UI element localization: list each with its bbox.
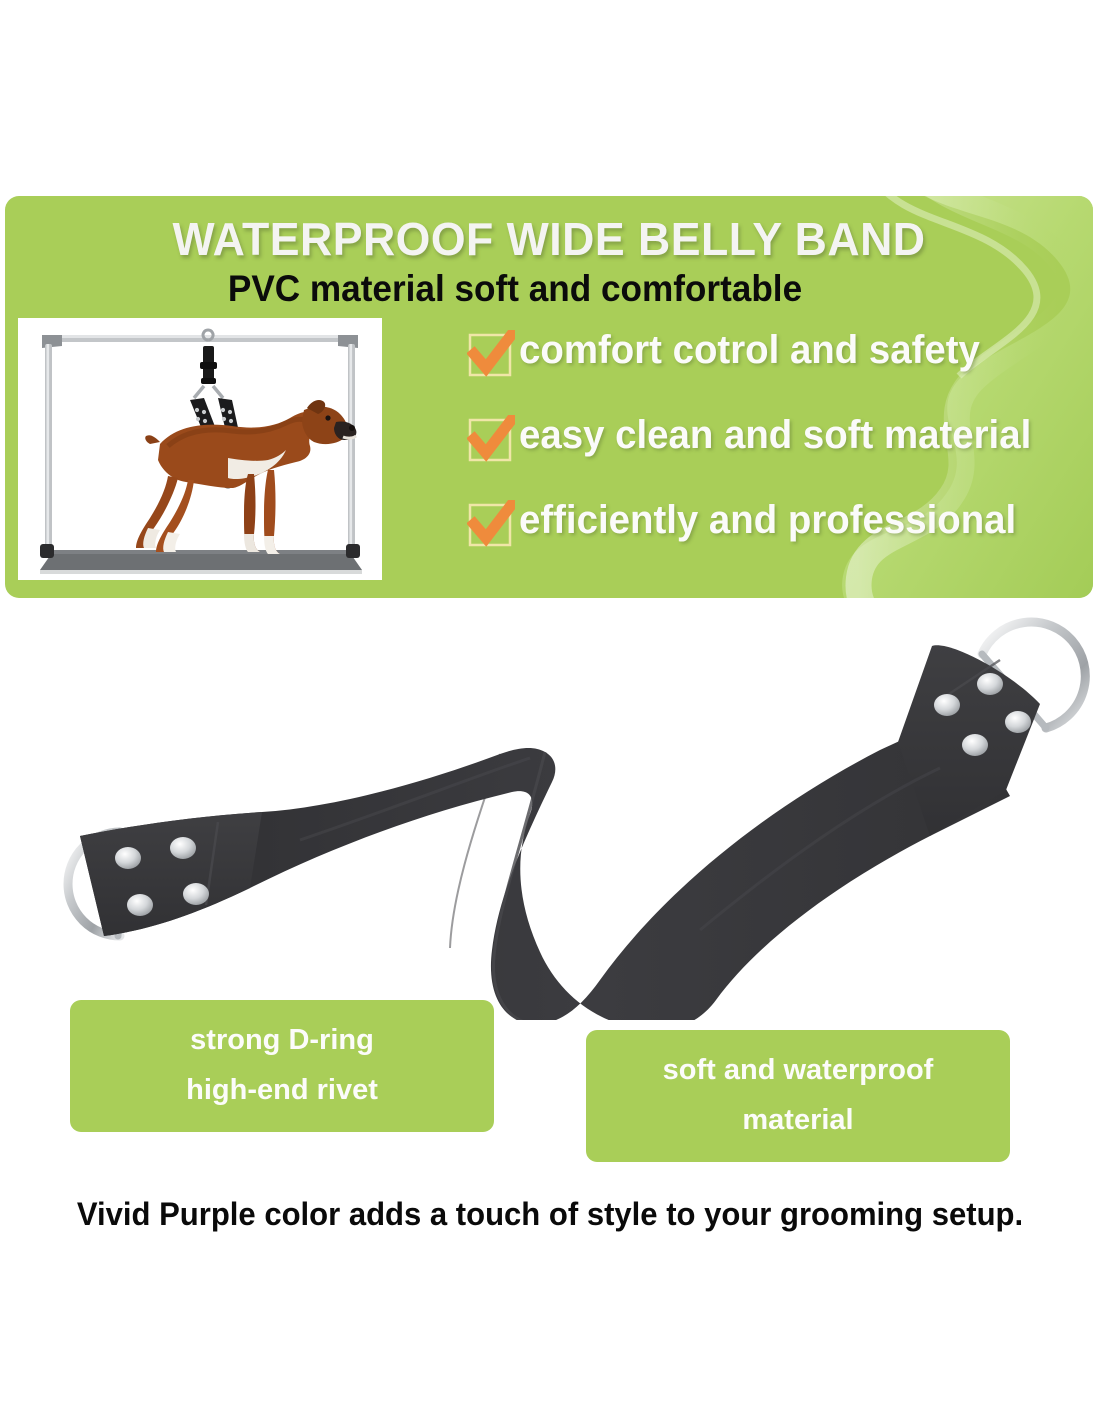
rivet	[183, 883, 209, 905]
feature-item: efficiently and professional	[467, 494, 1087, 579]
callout-line-1: soft and waterproof	[663, 1046, 934, 1096]
callout-line-2: high-end rivet	[186, 1066, 378, 1116]
callout-line-1: strong D-ring	[190, 1016, 374, 1066]
product-image-belly-band	[0, 600, 1100, 1020]
rivet	[127, 894, 153, 916]
feature-item: easy clean and soft material	[467, 409, 1087, 494]
bottom-caption: Vivid Purple color adds a touch of style…	[17, 1196, 1084, 1233]
rivet	[977, 673, 1003, 695]
callout-material: soft and waterproof material	[586, 1030, 1010, 1162]
rivet	[934, 694, 960, 716]
banner-title: WATERPROOF WIDE BELLY BAND	[21, 212, 1076, 266]
product-in-use-photo	[18, 318, 382, 580]
checkbox-checked-icon	[467, 330, 515, 378]
rivet	[115, 847, 141, 869]
feature-item-label: comfort cotrol and safety	[519, 328, 980, 373]
checkbox-checked-icon	[467, 415, 515, 463]
feature-item-label: easy clean and soft material	[519, 413, 1031, 458]
rivet	[170, 837, 196, 859]
rivet	[1005, 711, 1031, 733]
callout-d-ring-rivet: strong D-ring high-end rivet	[70, 1000, 494, 1132]
rivet	[962, 734, 988, 756]
dog-grooming-illustration	[18, 318, 382, 580]
belly-band-strap-graphic	[0, 600, 1100, 1020]
checkbox-checked-icon	[467, 500, 515, 548]
feature-item-label: efficiently and professional	[519, 498, 1016, 543]
callout-line-2: material	[742, 1096, 853, 1146]
feature-item: comfort cotrol and safety	[467, 324, 1087, 409]
feature-banner: WATERPROOF WIDE BELLY BAND PVC material …	[5, 196, 1093, 598]
feature-checklist: comfort cotrol and safety easy clean and…	[467, 324, 1087, 579]
banner-subtitle: PVC material soft and comfortable	[31, 268, 1000, 310]
